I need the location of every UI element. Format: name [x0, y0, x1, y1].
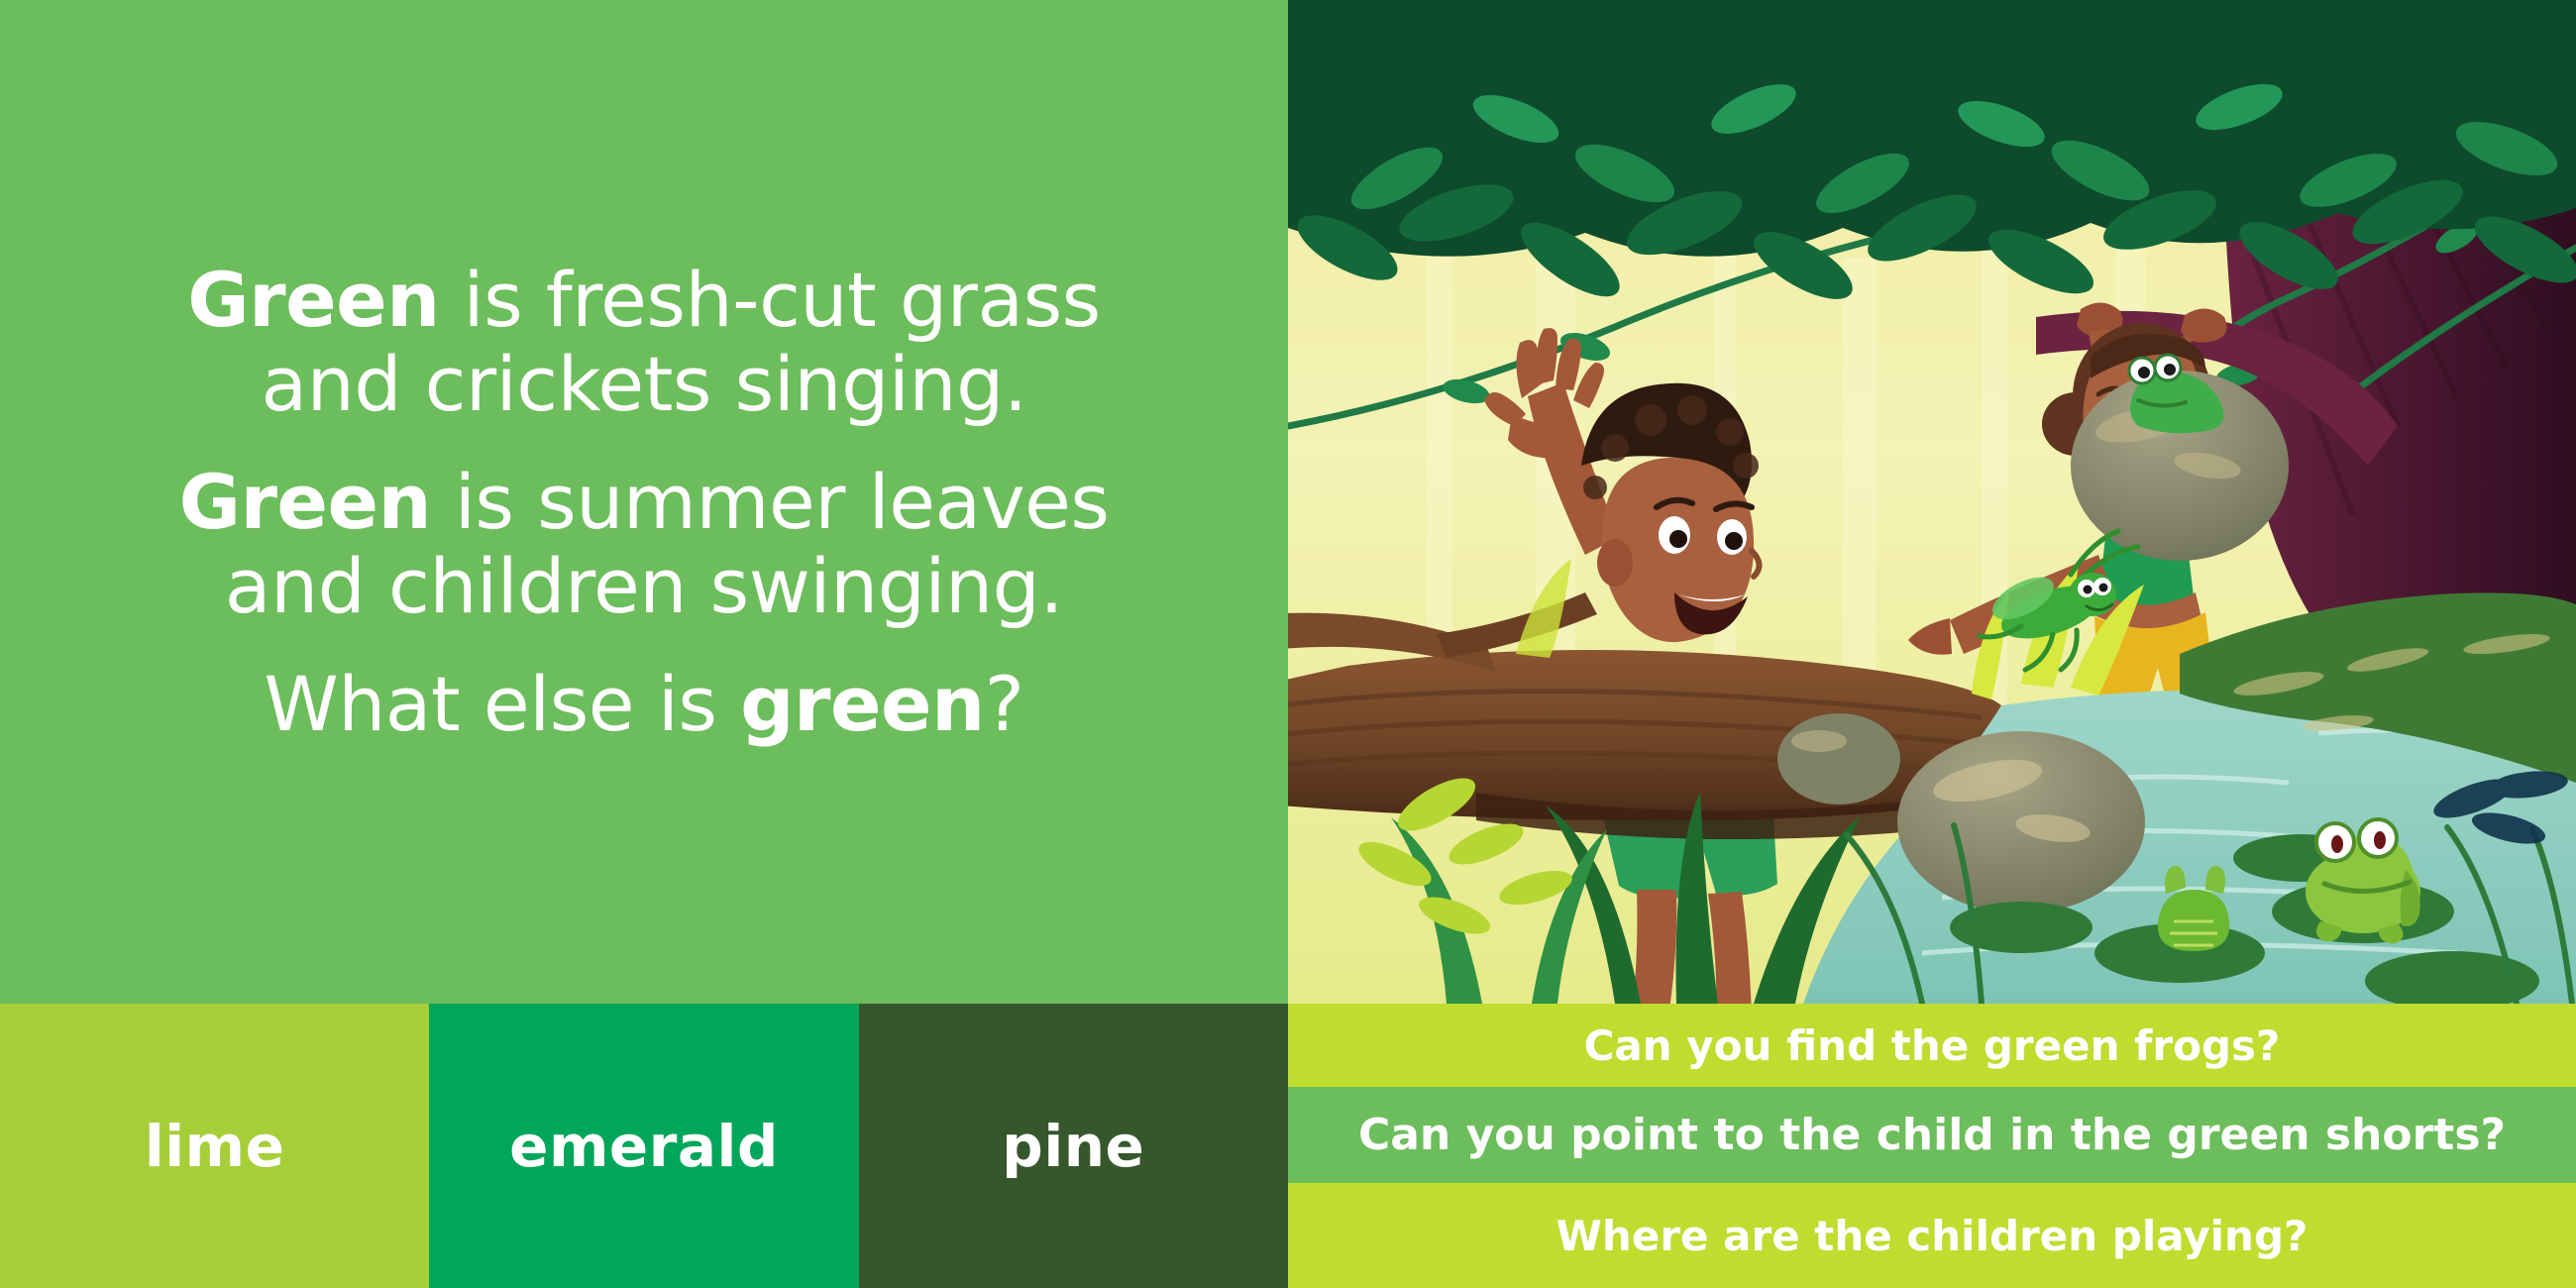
swatch-lime[interactable]: lime	[0, 1004, 429, 1288]
question-text-2: Can you point to the child in the green …	[1358, 1110, 2506, 1160]
jungle-pond-illustration	[1288, 0, 2576, 1004]
swatch-pine[interactable]: pine	[859, 1004, 1288, 1288]
pond-rock-small	[1777, 713, 1900, 805]
verse-panel: Green is fresh-cut grass and crickets si…	[0, 0, 1288, 1004]
verse-stanza-1: Green is fresh-cut grass and crickets si…	[59, 258, 1229, 426]
verse-question-lead: What else is	[264, 660, 740, 748]
swatch-label-lime: lime	[145, 1113, 285, 1180]
illustration-canvas	[1288, 0, 2576, 1004]
verse-line-1-rest: is fresh-cut grass	[440, 256, 1101, 344]
question-band-1[interactable]: Can you find the green frogs?	[1288, 1004, 2576, 1087]
verse-question: What else is green?	[59, 662, 1229, 746]
question-band-3[interactable]: Where are the children playing?	[1288, 1183, 2576, 1288]
verse-line-4: and children swinging.	[225, 542, 1063, 630]
question-text-3: Where are the children playing?	[1556, 1212, 2308, 1260]
verse-question-tail: ?	[985, 660, 1024, 748]
question-bands: Can you find the green frogs? Can you po…	[1288, 1004, 2576, 1288]
verse-bold-green-1: Green	[187, 256, 440, 344]
verse-line-3-rest: is summer leaves	[431, 458, 1109, 546]
swatch-label-emerald: emerald	[509, 1113, 779, 1180]
picture-book-spread: Green is fresh-cut grass and crickets si…	[0, 0, 2576, 1288]
swatch-label-pine: pine	[1002, 1113, 1144, 1180]
verse-stanza-2: Green is summer leaves and children swin…	[59, 460, 1229, 628]
verse-text-block: Green is fresh-cut grass and crickets si…	[59, 258, 1229, 747]
verse-bold-green-3: green	[740, 660, 985, 748]
swatch-emerald[interactable]: emerald	[429, 1004, 858, 1288]
pond-rock-large	[1897, 731, 2145, 913]
question-text-1: Can you find the green frogs?	[1584, 1021, 2281, 1070]
color-swatch-strip: lime emerald pine	[0, 1004, 1288, 1288]
verse-bold-green-2: Green	[179, 458, 432, 546]
verse-line-2: and crickets singing.	[262, 340, 1027, 428]
question-band-2[interactable]: Can you point to the child in the green …	[1288, 1087, 2576, 1183]
